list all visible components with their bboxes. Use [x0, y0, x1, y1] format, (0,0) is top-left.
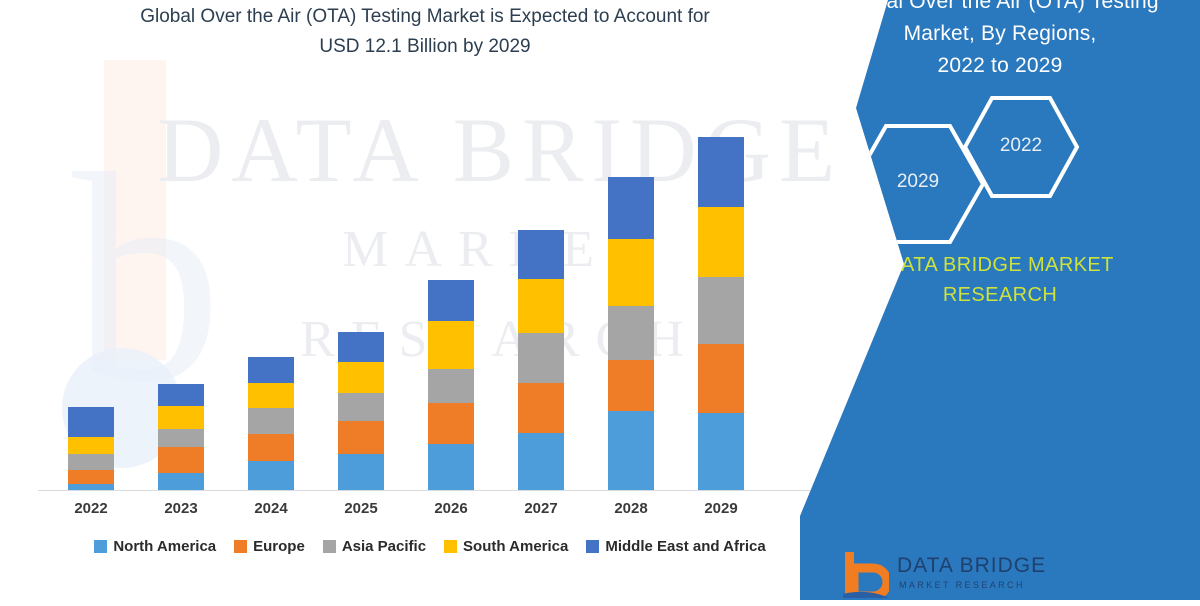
bar-2027 — [518, 230, 564, 490]
legend-label: Europe — [253, 538, 305, 555]
bar-segment-2029-middle-east-and-africa — [698, 137, 744, 208]
legend-swatch-icon — [323, 540, 336, 553]
bar-segment-2028-europe — [608, 360, 654, 411]
bar-segment-2025-middle-east-and-africa — [338, 332, 384, 362]
x-axis-label-2022: 2022 — [46, 500, 136, 517]
footer-logo-name: DATA BRIDGE — [897, 554, 1046, 578]
bar-segment-2022-middle-east-and-africa — [68, 407, 114, 437]
bar-segment-2027-europe — [518, 383, 564, 433]
bar-segment-2024-north-america — [248, 461, 294, 490]
panel-title-line2: Market, By Regions, — [800, 18, 1200, 50]
bar-segment-2029-south-america — [698, 207, 744, 277]
legend-item-north-america[interactable]: North America — [94, 538, 216, 555]
bar-segment-2026-asia-pacific — [428, 369, 474, 403]
bar-segment-2023-south-america — [158, 406, 204, 429]
x-axis-label-2025: 2025 — [316, 500, 406, 517]
x-axis-label-2023: 2023 — [136, 500, 226, 517]
bar-segment-2024-middle-east-and-africa — [248, 357, 294, 383]
bar-segment-2026-north-america — [428, 444, 474, 490]
bar-segment-2023-north-america — [158, 473, 204, 490]
bar-segment-2023-asia-pacific — [158, 429, 204, 448]
legend-swatch-icon — [444, 540, 457, 553]
right-panel-content: Global Over the Air (OTA) Testing Market… — [800, 0, 1200, 600]
bar-segment-2023-middle-east-and-africa — [158, 384, 204, 407]
legend-swatch-icon — [94, 540, 107, 553]
bar-segment-2028-asia-pacific — [608, 306, 654, 360]
bar-segment-2022-asia-pacific — [68, 454, 114, 469]
bar-segment-2026-middle-east-and-africa — [428, 280, 474, 321]
brand-name: DATA BRIDGE MARKET RESEARCH — [800, 250, 1200, 310]
footer-logo: DATA BRIDGE MARKET RESEARCH — [843, 544, 1103, 606]
bar-segment-2025-asia-pacific — [338, 393, 384, 422]
footer-logo-subtitle: MARKET RESEARCH — [899, 580, 1025, 590]
legend-item-europe[interactable]: Europe — [234, 538, 305, 555]
bar-segment-2022-south-america — [68, 437, 114, 454]
x-axis-line — [38, 490, 820, 491]
bar-segment-2025-europe — [338, 421, 384, 454]
bar-2023 — [158, 384, 204, 490]
chart-legend: North AmericaEuropeAsia PacificSouth Ame… — [40, 538, 820, 555]
bar-segment-2027-north-america — [518, 433, 564, 490]
legend-swatch-icon — [234, 540, 247, 553]
bar-segment-2022-europe — [68, 470, 114, 484]
bar-segment-2023-europe — [158, 447, 204, 473]
x-axis-label-2027: 2027 — [496, 500, 586, 517]
brand-line2: RESEARCH — [800, 280, 1200, 310]
bridge-mark-icon — [843, 550, 889, 598]
bar-segment-2029-asia-pacific — [698, 277, 744, 344]
bar-2029 — [698, 137, 744, 490]
bar-segment-2022-north-america — [68, 484, 114, 490]
panel-title-line3: 2022 to 2029 — [800, 50, 1200, 82]
x-axis-label-2029: 2029 — [676, 500, 766, 517]
brand-line1: DATA BRIDGE MARKET — [800, 250, 1200, 280]
bar-2025 — [338, 332, 384, 490]
panel-title-line1: Global Over the Air (OTA) Testing — [800, 0, 1200, 18]
bar-segment-2024-asia-pacific — [248, 408, 294, 434]
chart-plot-area: 20222023202420252026202720282029 — [0, 0, 830, 600]
legend-swatch-icon — [586, 540, 599, 553]
bar-segment-2026-south-america — [428, 321, 474, 369]
hexagon-2029: 2029 — [850, 123, 986, 245]
bar-segment-2027-middle-east-and-africa — [518, 230, 564, 279]
infographic-root: b DATA BRIDGE MARKET RESEARCH Global Ove… — [0, 0, 1200, 600]
panel-title: Global Over the Air (OTA) Testing Market… — [800, 0, 1200, 82]
bar-segment-2028-north-america — [608, 411, 654, 490]
x-axis-label-2024: 2024 — [226, 500, 316, 517]
legend-item-south-america[interactable]: South America — [444, 538, 568, 555]
bar-segment-2025-south-america — [338, 362, 384, 393]
bar-segment-2027-asia-pacific — [518, 333, 564, 383]
bar-segment-2029-europe — [698, 344, 744, 414]
legend-label: South America — [463, 538, 568, 555]
legend-item-middle-east-and-africa[interactable]: Middle East and Africa — [586, 538, 765, 555]
bar-segment-2029-north-america — [698, 413, 744, 490]
legend-label: North America — [113, 538, 216, 555]
bar-2028 — [608, 177, 654, 490]
legend-label: Middle East and Africa — [605, 538, 765, 555]
bar-2022 — [68, 407, 114, 490]
bar-segment-2028-middle-east-and-africa — [608, 177, 654, 239]
bar-segment-2028-south-america — [608, 239, 654, 306]
bar-segment-2027-south-america — [518, 279, 564, 332]
x-axis-label-2026: 2026 — [406, 500, 496, 517]
bar-segment-2025-north-america — [338, 454, 384, 490]
legend-item-asia-pacific[interactable]: Asia Pacific — [323, 538, 426, 555]
right-panel: Global Over the Air (OTA) Testing Market… — [800, 0, 1200, 600]
bar-segment-2024-south-america — [248, 383, 294, 409]
hexagon-2029-label: 2029 — [850, 171, 986, 193]
legend-label: Asia Pacific — [342, 538, 426, 555]
bar-segment-2026-europe — [428, 403, 474, 444]
bar-2024 — [248, 357, 294, 490]
x-axis-label-2028: 2028 — [586, 500, 676, 517]
hexagon-group: 2022 2029 — [830, 95, 1170, 230]
bar-2026 — [428, 280, 474, 490]
bar-segment-2024-europe — [248, 434, 294, 462]
